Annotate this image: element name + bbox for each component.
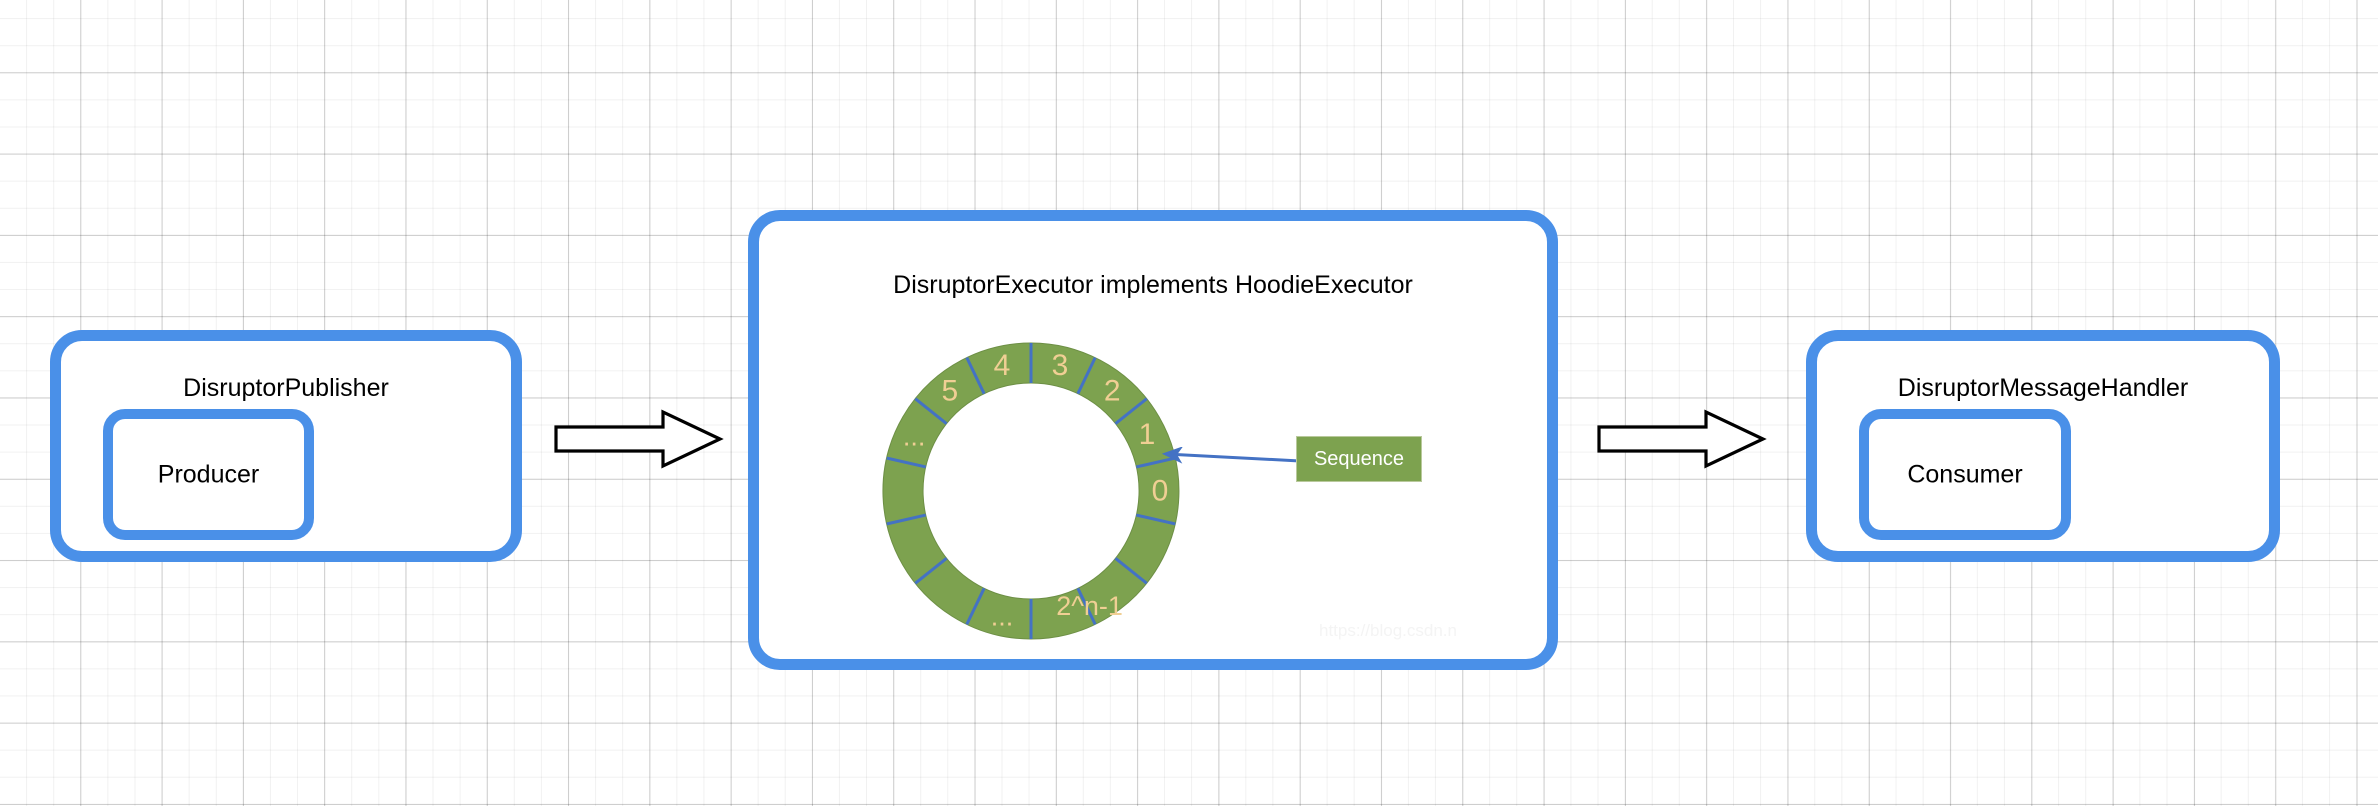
disruptor-publisher-title: DisruptorPublisher (61, 374, 511, 403)
sequence-connector-arrow (1157, 447, 1302, 471)
ring-slot-label: 3 (1052, 349, 1069, 382)
ring-slot-label: 2 (1104, 374, 1121, 407)
ring-slot-label: 5 (941, 374, 958, 407)
ring-slot-label: 0 (1152, 475, 1169, 508)
consumer-label: Consumer (1869, 460, 2061, 489)
arrow-shape (556, 412, 720, 466)
ring-slot-label: 1 (1139, 418, 1156, 451)
watermark-text: https://blog.csdn.n (1319, 621, 1457, 641)
sequence-label: Sequence (1314, 448, 1404, 471)
disruptor-executor-box[interactable]: DisruptorExecutor implements HoodieExecu… (748, 210, 1558, 670)
arrow-publisher-to-executor (554, 409, 724, 469)
diagram-canvas: DisruptorPublisher Producer DisruptorExe… (0, 0, 2378, 806)
ring-slot-label: 2^n-1 (1056, 591, 1123, 621)
disruptor-executor-title: DisruptorExecutor implements HoodieExecu… (759, 271, 1547, 300)
sequence-box[interactable]: Sequence (1296, 436, 1422, 482)
ring-annulus (883, 343, 1179, 639)
ring-slot-label: 4 (994, 349, 1011, 382)
disruptor-message-handler-box[interactable]: DisruptorMessageHandler Consumer (1806, 330, 2280, 562)
arrow-shape (1599, 412, 1763, 466)
producer-box[interactable]: Producer (103, 409, 314, 540)
arrow-executor-to-handler (1597, 409, 1767, 469)
ring-buffer-svg: 345...2102^n-1... (871, 331, 1191, 651)
producer-label: Producer (113, 460, 304, 489)
ring-buffer: 345...2102^n-1... (871, 331, 1191, 651)
consumer-box[interactable]: Consumer (1859, 409, 2071, 540)
ring-slot-label: ... (903, 421, 926, 451)
disruptor-message-handler-title: DisruptorMessageHandler (1817, 374, 2269, 403)
disruptor-publisher-box[interactable]: DisruptorPublisher Producer (50, 330, 522, 562)
ring-slot-label: ... (991, 602, 1014, 632)
sequence-connector-line (1166, 454, 1300, 461)
